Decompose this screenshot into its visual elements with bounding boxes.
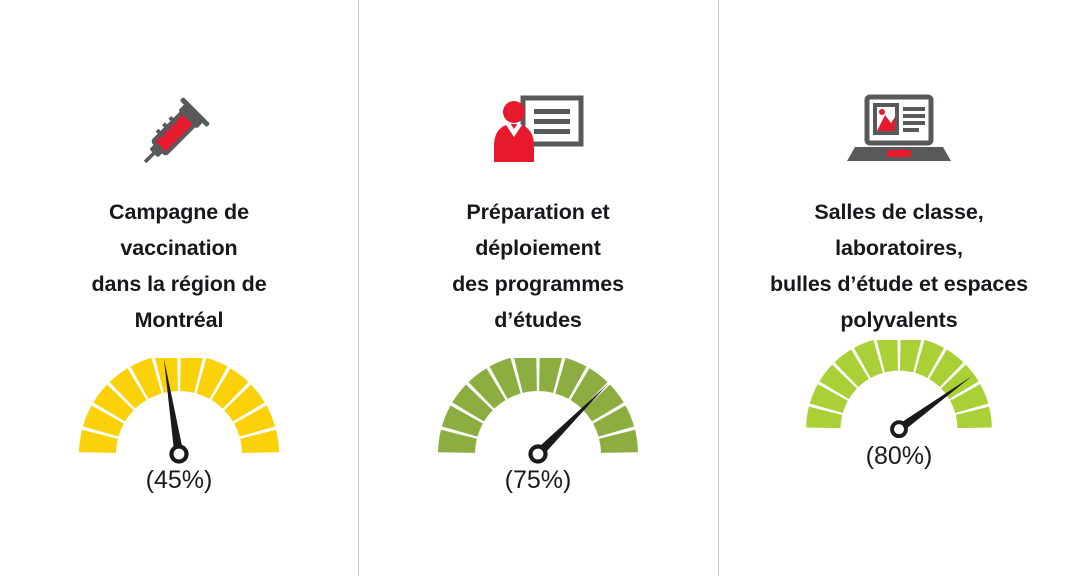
gauge-programmes: (75%) [358, 358, 718, 495]
caption-line: déploiement [358, 230, 718, 266]
gauge-dial-locaux [801, 340, 997, 444]
gauge-vaccination: (45%) [0, 358, 358, 495]
gauge-locaux: (80%) [718, 340, 1080, 471]
gauge-dial-programmes [433, 358, 643, 470]
caption-line: bulles d’étude et espaces [718, 266, 1080, 302]
caption-line: Campagne de [0, 194, 358, 230]
gauge-value-locaux: (80%) [866, 442, 933, 471]
caption-line: des programmes [358, 266, 718, 302]
panel-caption-vaccination: Campagne de vaccination dans la région d… [0, 194, 358, 338]
caption-line: Montréal [0, 302, 358, 338]
panel-caption-locaux: Salles de classe, laboratoires, bulles d… [718, 194, 1080, 338]
gauge-needle-pointer [535, 385, 607, 457]
laptop-icon [847, 82, 951, 178]
caption-line: laboratoires, [718, 230, 1080, 266]
panel-locaux: Salles de classe, laboratoires, bulles d… [718, 0, 1080, 576]
gauge-needle-hub [892, 422, 906, 436]
gauge-value-vaccination: (45%) [146, 466, 213, 495]
caption-line: Salles de classe, [718, 194, 1080, 230]
syringe-icon [131, 78, 227, 178]
panel-programmes: Préparation et déploiement des programme… [358, 0, 718, 576]
panel-vaccination: Campagne de vaccination dans la région d… [0, 0, 358, 576]
panel-caption-programmes: Préparation et déploiement des programme… [358, 194, 718, 338]
gauge-value-programmes: (75%) [505, 466, 572, 495]
caption-line: Préparation et [358, 194, 718, 230]
gauge-needle-hub [531, 447, 546, 462]
caption-line: dans la région de [0, 266, 358, 302]
caption-line: polyvalents [718, 302, 1080, 338]
gauge-needle-hub [172, 447, 187, 462]
caption-line: vaccination [0, 230, 358, 266]
caption-line: d’études [358, 302, 718, 338]
gauge-dial-vaccination [74, 358, 284, 470]
presentation-person-icon [490, 82, 586, 178]
dashboard-gauges: Campagne de vaccination dans la région d… [0, 0, 1080, 576]
